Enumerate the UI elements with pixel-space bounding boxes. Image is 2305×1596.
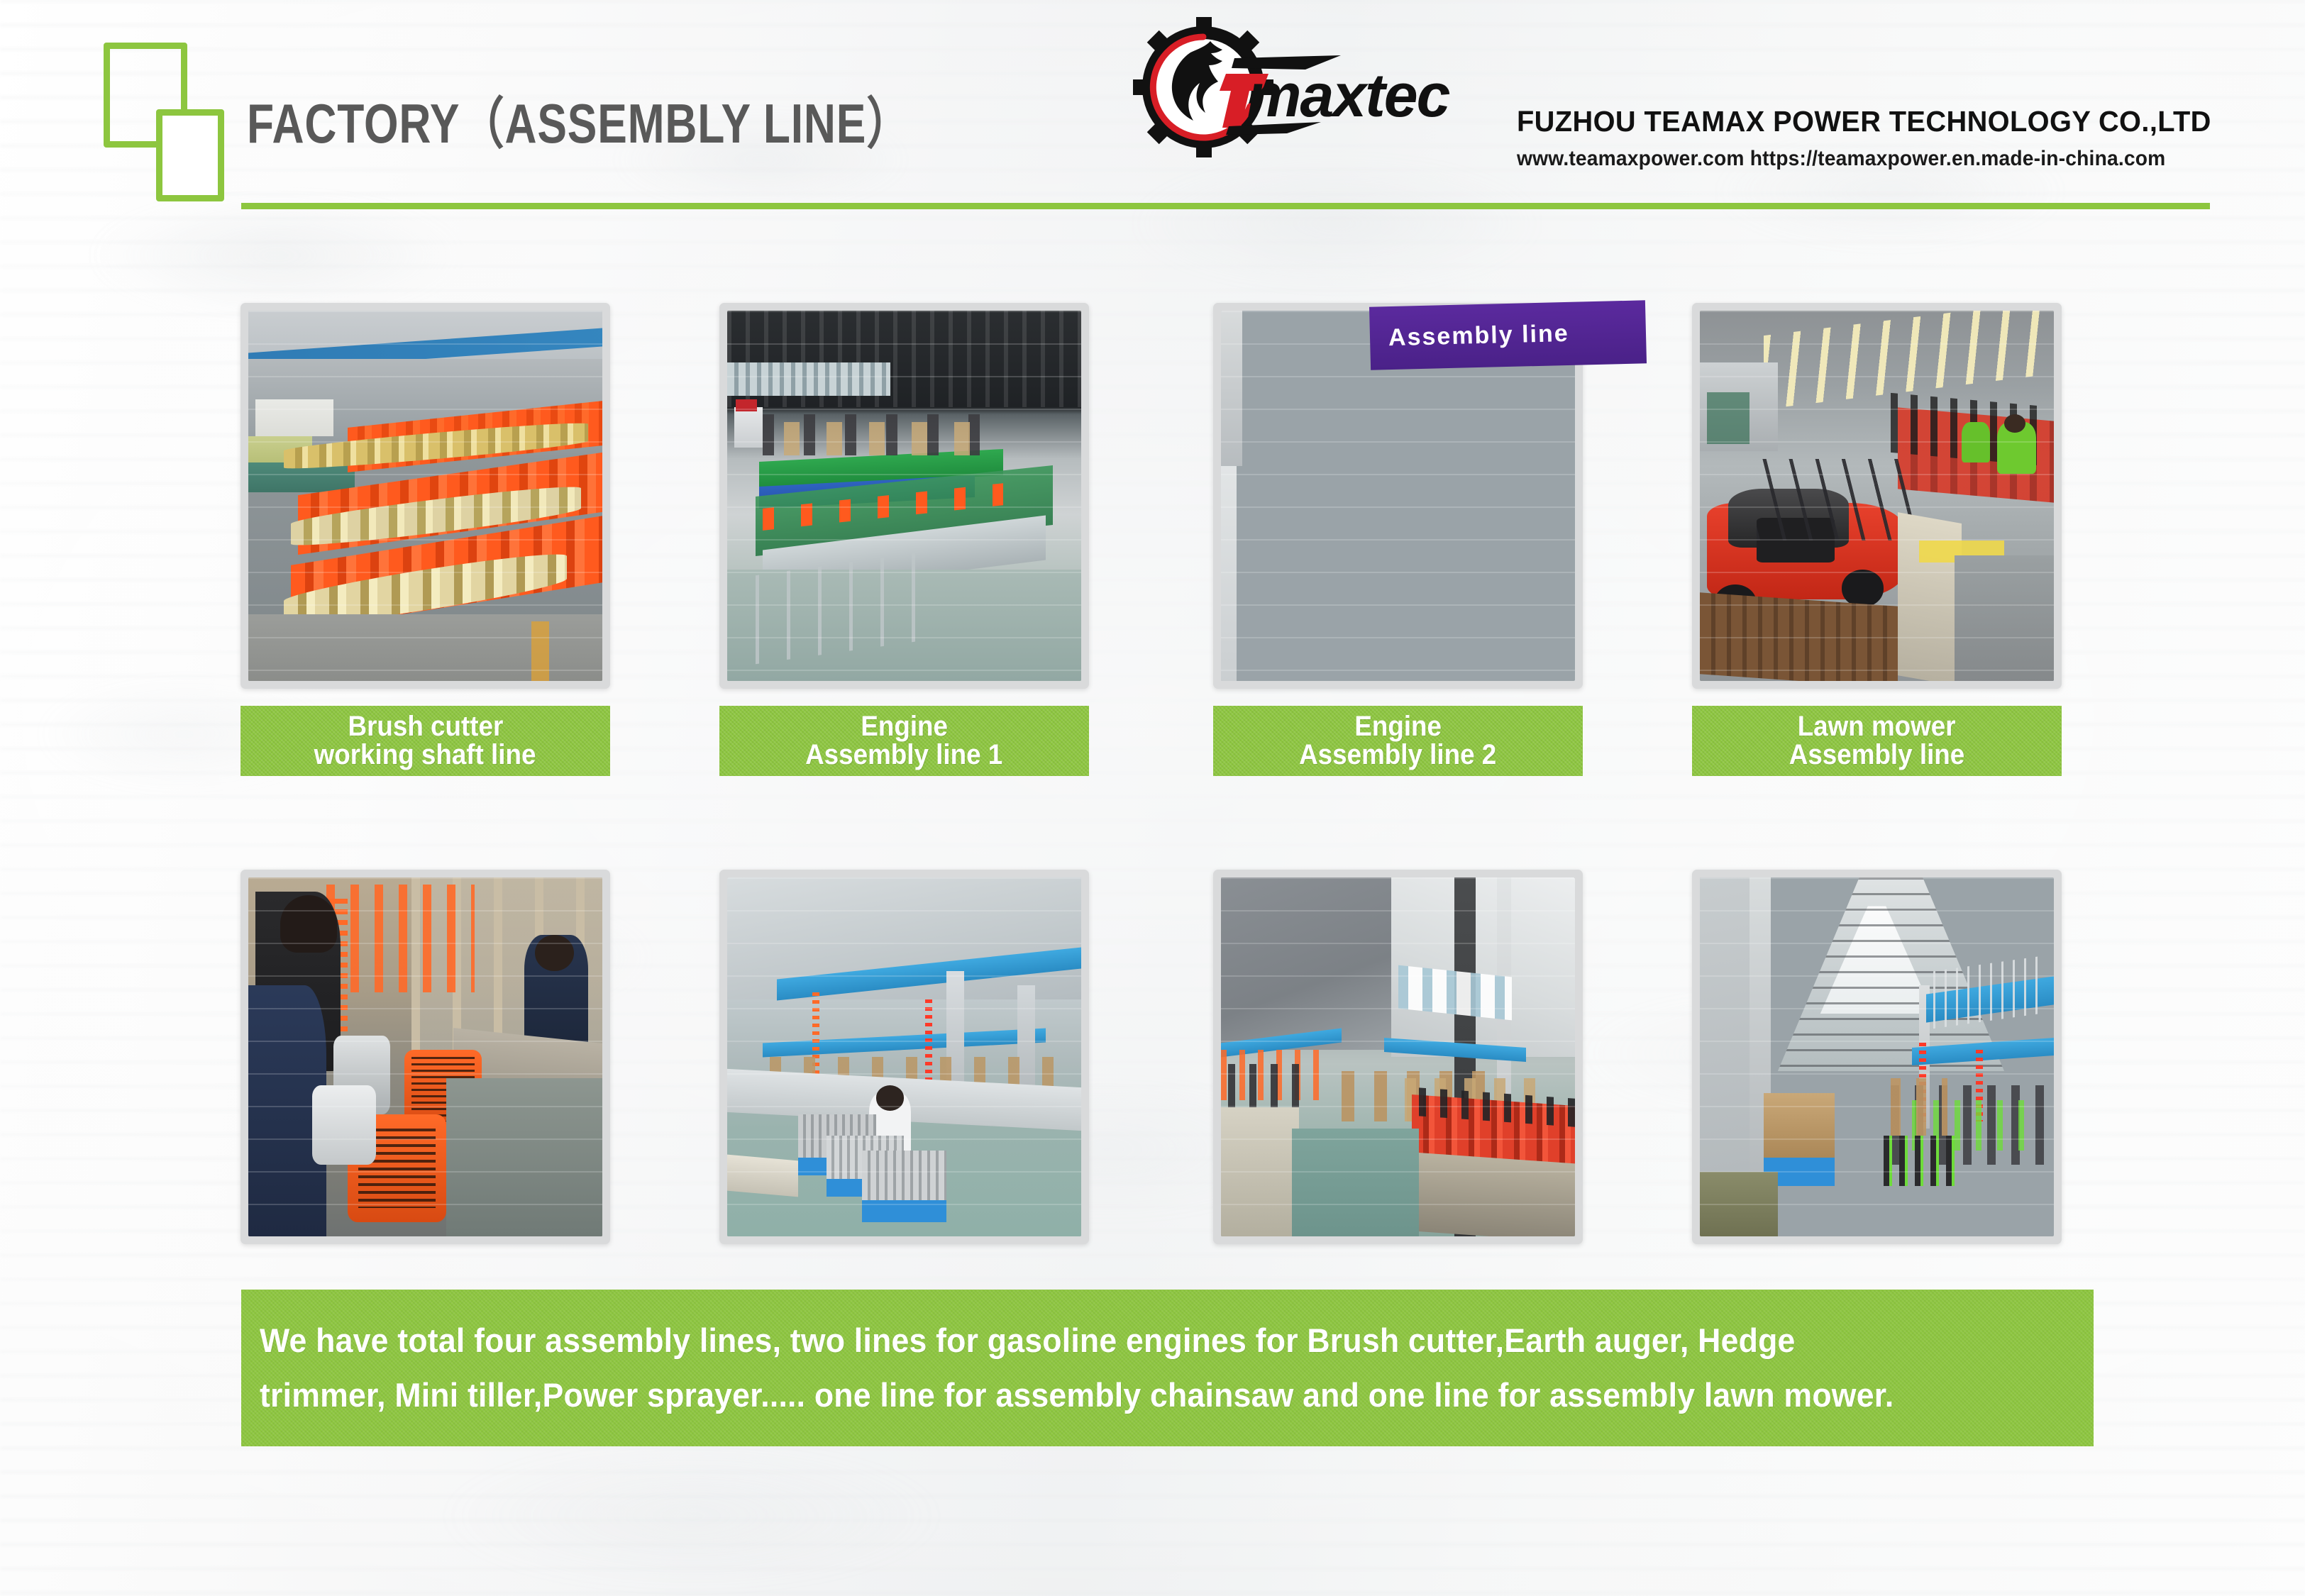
company-name: FUZHOU TEAMAX POWER TECHNOLOGY CO.,LTD — [1517, 105, 2218, 138]
caption-line-1: Engine — [861, 713, 948, 741]
photo-frame-brush-cutter-final-assembly — [241, 870, 610, 1244]
summary-line-1: We have total four assembly lines, two l… — [260, 1314, 1984, 1368]
caption-line-2: Assembly line 1 — [805, 741, 1002, 770]
company-info-block: FUZHOU TEAMAX POWER TECHNOLOGY CO.,LTD w… — [1517, 105, 2240, 171]
caption-line-2: Assembly line — [1789, 741, 1964, 770]
engine-assembly-line-2-photo: Assembly line — [1221, 311, 1575, 681]
photo-frame-engine-line-2: Assembly line — [1213, 303, 1583, 689]
photo-frame-cylinder-parts-workshop — [719, 870, 1089, 1244]
assembly-line-sign: Assembly line — [1369, 300, 1647, 370]
decorative-squares-icon — [104, 43, 238, 184]
photo-frame-general-assembly-hall — [1692, 870, 2062, 1244]
cylinder-parts-workshop-photo — [727, 877, 1081, 1236]
lawn-mower-assembly-line-photo — [1700, 311, 2054, 681]
photo-frame-chainsaw-assembly-hall — [1213, 870, 1583, 1244]
decorative-square-small — [156, 109, 224, 201]
caption-brush-cutter-working-shaft-line: Brush cutter working shaft line — [241, 706, 610, 776]
company-urls[interactable]: www.teamaxpower.com https://teamaxpower.… — [1517, 147, 2197, 171]
caption-line-1: Engine — [1354, 713, 1442, 741]
assembly-line-sign-text: Assembly line — [1388, 319, 1569, 351]
engine-assembly-line-1-photo — [727, 311, 1081, 681]
page-title: FACTORY（ASSEMBLY LINE） — [247, 79, 911, 159]
teamax-maxtec-logo: maxtec — [1128, 14, 1483, 163]
svg-text:maxtec: maxtec — [1247, 62, 1450, 130]
general-assembly-hall-photo — [1700, 877, 2054, 1236]
summary-banner: We have total four assembly lines, two l… — [241, 1290, 2094, 1446]
caption-lawn-mower-assembly-line: Lawn mower Assembly line — [1692, 706, 2062, 776]
caption-engine-assembly-line-1: Engine Assembly line 1 — [719, 706, 1089, 776]
photo-frame-lawn-mower-line — [1692, 303, 2062, 689]
caption-line-1: Lawn mower — [1798, 713, 1956, 741]
chainsaw-assembly-hall-photo — [1221, 877, 1575, 1236]
summary-line-2: trimmer, Mini tiller,Power sprayer..... … — [260, 1368, 1984, 1422]
brush-cutter-shaft-rack-photo — [248, 311, 602, 681]
header-divider-rule — [241, 203, 2210, 209]
caption-line-1: Brush cutter — [348, 713, 503, 741]
caption-engine-assembly-line-2: Engine Assembly line 2 — [1213, 706, 1583, 776]
photo-frame-brush-cutter-shaft — [241, 303, 610, 689]
page-header: FACTORY（ASSEMBLY LINE） — [0, 0, 2305, 213]
caption-line-2: Assembly line 2 — [1299, 741, 1496, 770]
photo-frame-engine-line-1 — [719, 303, 1089, 689]
brush-cutter-final-assembly-photo — [248, 877, 602, 1236]
caption-line-2: working shaft line — [314, 741, 536, 770]
